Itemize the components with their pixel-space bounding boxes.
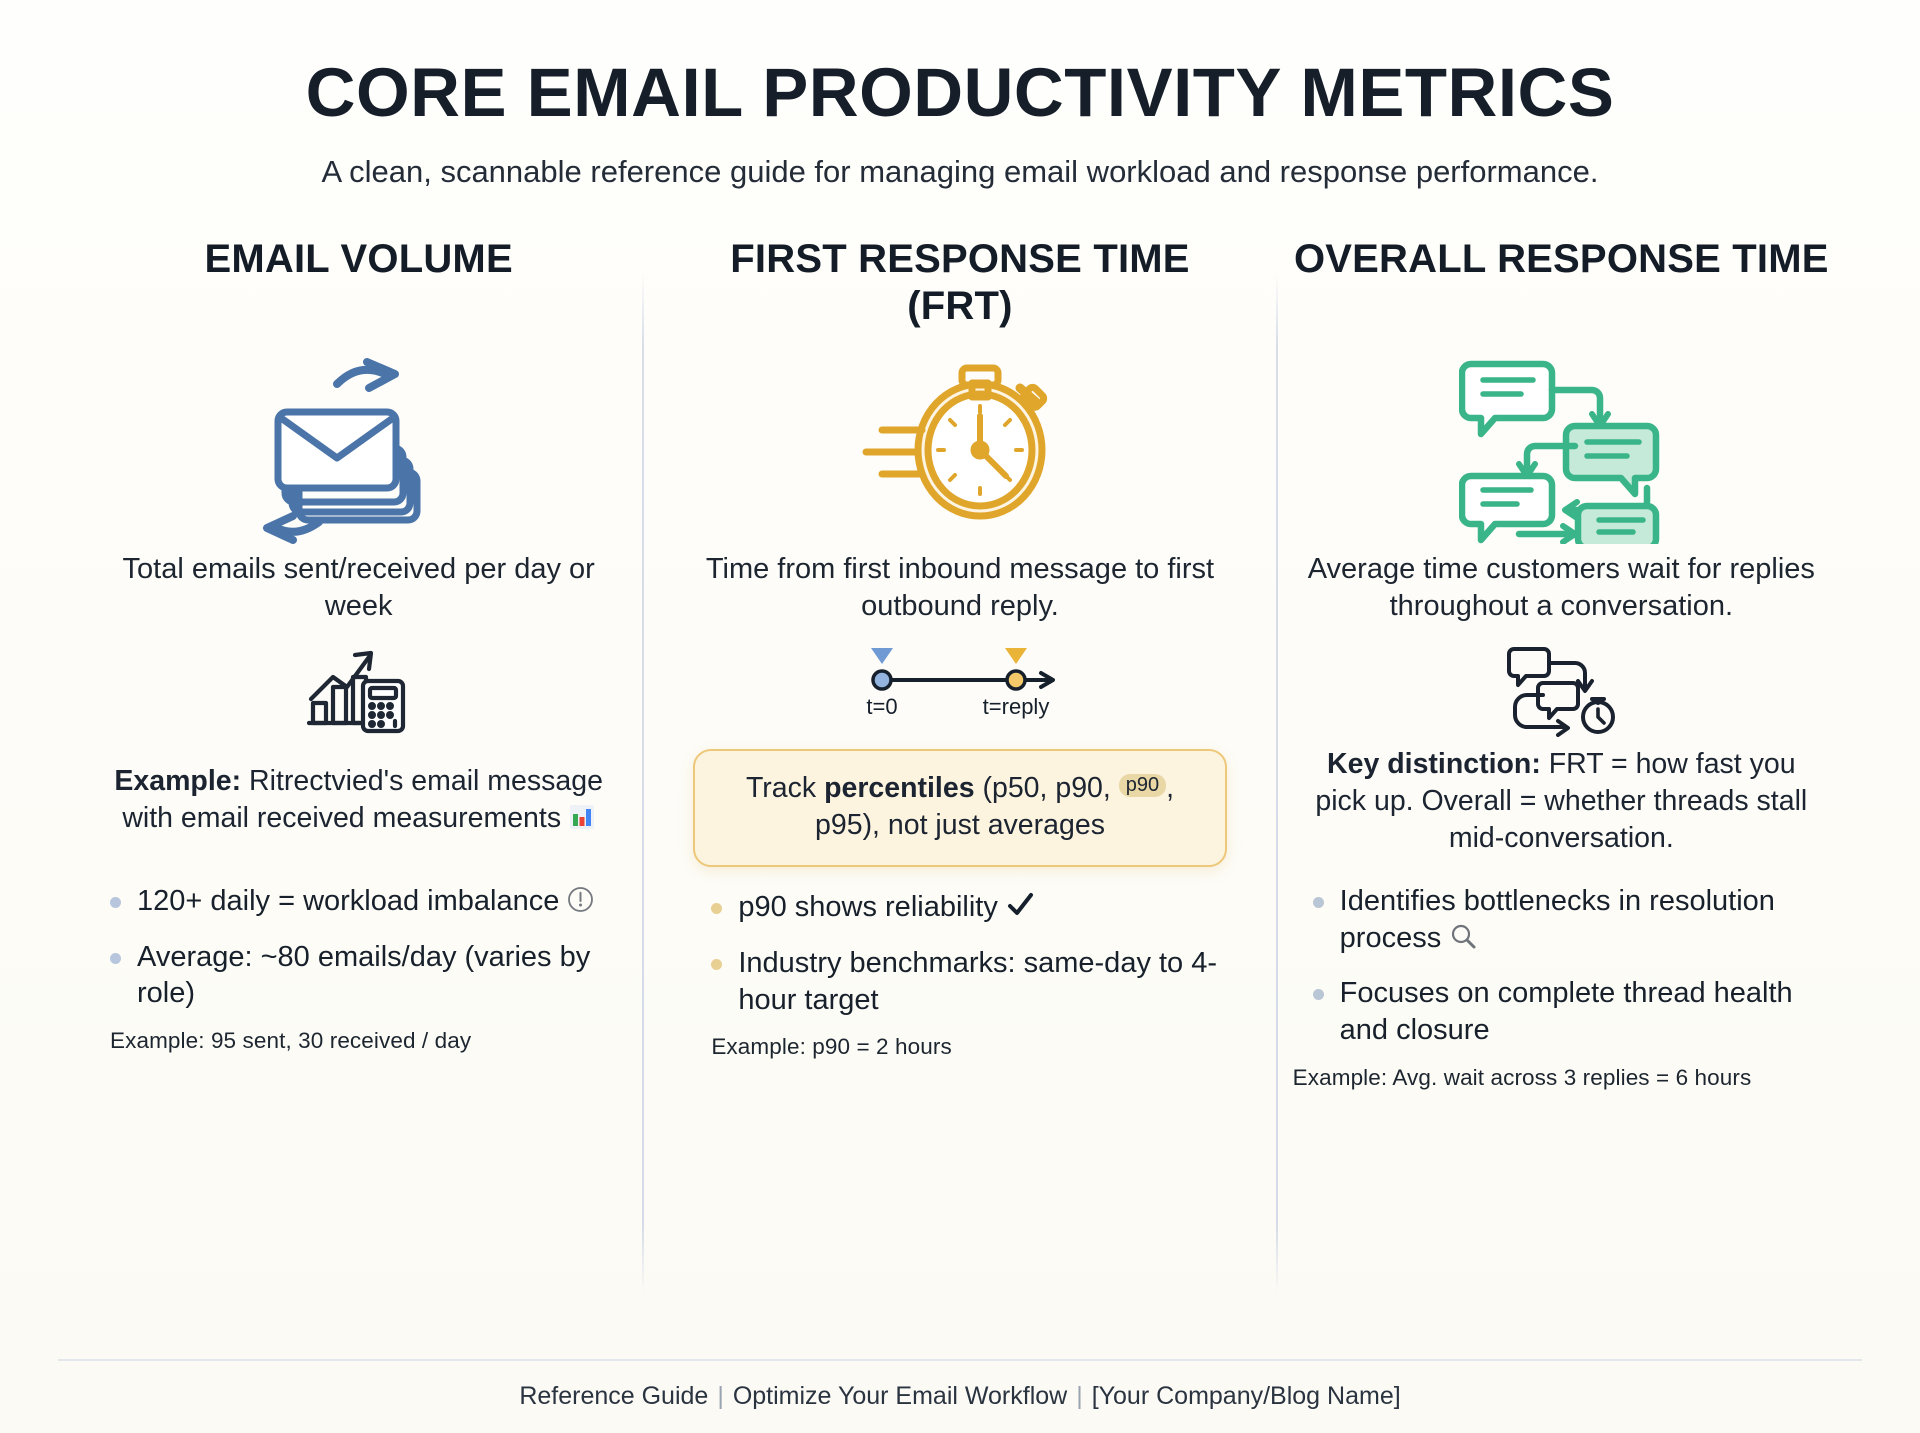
infographic-canvas: CORE EMAIL PRODUCTIVITY METRICS A clean,… — [0, 0, 1920, 1433]
alert-circle-icon — [567, 886, 594, 923]
envelope-stack-icon — [86, 346, 631, 551]
list-item: Average: ~80 emails/day (varies by role) — [110, 939, 631, 1012]
list-item: Focuses on complete thread health and cl… — [1313, 975, 1834, 1048]
check-mark-icon — [1006, 891, 1034, 929]
timeline-end-marker — [1005, 648, 1027, 664]
bullet-text: 120+ daily = workload imbalance — [137, 885, 559, 917]
footer-separator: | — [1067, 1382, 1092, 1410]
bullet-list-overall-response-time: Identifies bottlenecks in resolution pro… — [1289, 883, 1834, 1048]
callout-prefix: Track — [746, 772, 824, 804]
metric-card-overall-response-time: OVERALL RESPONSE TIME — [1261, 236, 1862, 1090]
bullet-dot-icon — [1313, 897, 1324, 908]
metric-example-email-volume: Example: 95 sent, 30 received / day — [86, 1028, 631, 1054]
bullet-dot-icon — [711, 959, 722, 970]
footer-item-reference-guide: Reference Guide — [519, 1382, 708, 1410]
list-item: 120+ daily = workload imbalance — [110, 883, 631, 923]
bullet-text: Industry benchmarks: same-day to 4-hour … — [738, 945, 1232, 1018]
metric-description-overall-response-time: Average time customers wait for replies … — [1289, 551, 1834, 627]
metrics-columns: EMAIL VOLUME Total em — [0, 236, 1920, 1090]
bullet-dot-icon — [110, 897, 121, 908]
bullet-dot-icon — [1313, 989, 1324, 1000]
metric-title-first-response-time: FIRST RESPONSE TIME (FRT) — [687, 236, 1232, 332]
chat-loop-timer-icon — [1289, 637, 1834, 741]
footer-divider — [58, 1359, 1862, 1361]
footer-separator: | — [708, 1382, 733, 1410]
p90-badge: p90 — [1119, 774, 1166, 797]
percentiles-callout: Track percentiles (p50, p90, p90, p95), … — [693, 749, 1226, 867]
note-label: Key distinction: — [1327, 748, 1541, 780]
footer-item-company-name: [Your Company/Blog Name] — [1092, 1382, 1401, 1410]
callout-bold: percentiles — [824, 772, 975, 804]
stopwatch-icon — [687, 346, 1232, 551]
footer: Reference Guide|Optimize Your Email Work… — [0, 1382, 1920, 1411]
timeline-end-label: t=reply — [983, 694, 1050, 719]
metric-example-overall-response-time: Example: Avg. wait across 3 replies = 6 … — [1289, 1065, 1834, 1091]
metric-note-overall-response-time: Key distinction: FRT = how fast you pick… — [1289, 741, 1834, 861]
metric-title-overall-response-time: OVERALL RESPONSE TIME — [1289, 236, 1834, 332]
metric-description-first-response-time: Time from first inbound message to first… — [687, 551, 1232, 627]
bullet-list-email-volume: 120+ daily = workload imbalance Average:… — [86, 883, 631, 1012]
page-subtitle: A clean, scannable reference guide for m… — [0, 154, 1920, 190]
metric-title-email-volume: EMAIL VOLUME — [86, 236, 631, 332]
timeline-start-marker — [871, 648, 893, 664]
list-item: p90 shows reliability — [711, 889, 1232, 929]
timeline-start-label: t=0 — [866, 694, 897, 719]
header: CORE EMAIL PRODUCTIVITY METRICS A clean,… — [0, 0, 1920, 190]
magnifier-icon — [1449, 922, 1477, 960]
footer-item-optimize-workflow: Optimize Your Email Workflow — [733, 1382, 1067, 1410]
bullet-text: p90 shows reliability — [738, 891, 998, 923]
timeline-icon: t=0 t=reply — [687, 637, 1232, 741]
metric-card-first-response-time: FIRST RESPONSE TIME (FRT) — [659, 236, 1260, 1060]
metric-description-email-volume: Total emails sent/received per day or we… — [86, 551, 631, 627]
bullet-dot-icon — [711, 903, 722, 914]
note-label: Example: — [114, 765, 241, 797]
bar-chart-calculator-icon — [86, 637, 631, 741]
bullet-dot-icon — [110, 953, 121, 964]
metric-example-first-response-time: Example: p90 = 2 hours — [687, 1034, 1232, 1060]
callout-middle: (p50, p90, — [975, 772, 1119, 804]
list-item: Identifies bottlenecks in resolution pro… — [1313, 883, 1834, 959]
chat-flow-icon — [1289, 346, 1834, 551]
bar-chart-emoji — [569, 803, 595, 840]
list-item: Industry benchmarks: same-day to 4-hour … — [711, 945, 1232, 1018]
bullet-list-first-response-time: p90 shows reliability Industry benchmark… — [687, 889, 1232, 1018]
bullet-text: Identifies bottlenecks in resolution pro… — [1340, 885, 1775, 954]
page-title: CORE EMAIL PRODUCTIVITY METRICS — [0, 58, 1920, 128]
bullet-text: Focuses on complete thread health and cl… — [1340, 975, 1834, 1048]
metric-note-email-volume: Example: Ritrectvied's email message wit… — [86, 741, 631, 861]
bullet-text: Average: ~80 emails/day (varies by role) — [137, 939, 631, 1012]
metric-card-email-volume: EMAIL VOLUME Total em — [58, 236, 659, 1054]
